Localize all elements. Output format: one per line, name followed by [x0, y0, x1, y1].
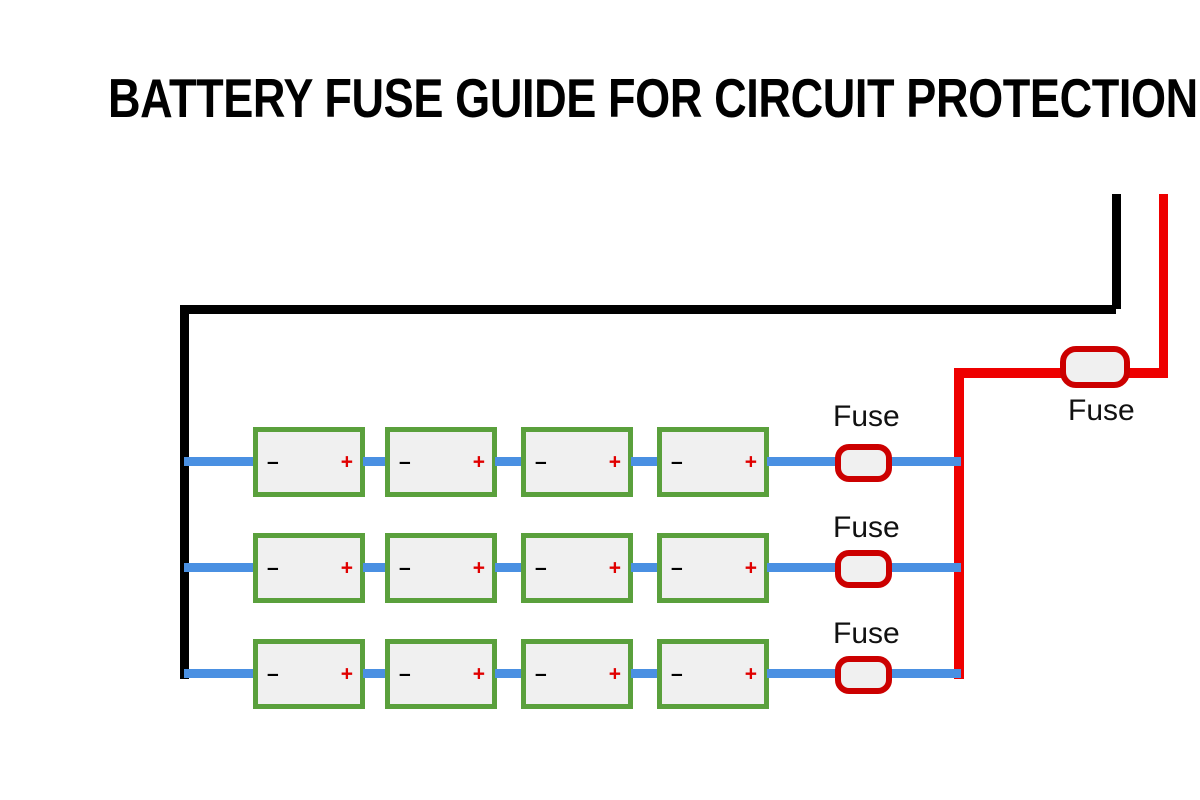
- string-3-wire-3-4: [631, 669, 659, 678]
- terminal-positive-label: +: [609, 558, 621, 579]
- terminal-positive-label: +: [341, 452, 353, 473]
- terminal-positive-label: +: [745, 452, 757, 473]
- terminal-negative-label: –: [671, 664, 683, 685]
- red-bus-right-riser: [1159, 194, 1168, 374]
- string-3-wire-2-3: [495, 669, 523, 678]
- string-1-battery-1[interactable]: – +: [253, 427, 365, 497]
- string-3-wire-bus-to-battery-1: [184, 669, 255, 678]
- terminal-negative-label: –: [399, 558, 411, 579]
- terminal-negative-label: –: [267, 664, 279, 685]
- red-bus-top-horizontal: [954, 368, 1064, 378]
- terminal-positive-label: +: [473, 452, 485, 473]
- terminal-negative-label: –: [267, 452, 279, 473]
- string-3-battery-3[interactable]: – +: [521, 639, 633, 709]
- terminal-positive-label: +: [341, 664, 353, 685]
- terminal-positive-label: +: [341, 558, 353, 579]
- terminal-positive-label: +: [473, 558, 485, 579]
- string-1-wire-2-3: [495, 457, 523, 466]
- terminal-positive-label: +: [745, 664, 757, 685]
- string-1-wire-1-2: [363, 457, 387, 466]
- string-2-wire-2-3: [495, 563, 523, 572]
- string-1-battery-4[interactable]: – +: [657, 427, 769, 497]
- string-3-battery-4[interactable]: – +: [657, 639, 769, 709]
- string-1-battery-2[interactable]: – +: [385, 427, 497, 497]
- black-bus-left-vertical: [180, 305, 189, 679]
- string-2-battery-1[interactable]: – +: [253, 533, 365, 603]
- main-fuse-label: Fuse: [1068, 396, 1135, 426]
- string-2-wire-1-2: [363, 563, 387, 572]
- terminal-negative-label: –: [671, 452, 683, 473]
- string-2-wire-3-4: [631, 563, 659, 572]
- string-3-wire-1-2: [363, 669, 387, 678]
- string-3-fuse-label: Fuse: [833, 619, 900, 649]
- diagram-canvas: BATTERY FUSE GUIDE FOR CIRCUIT PROTECTIO…: [0, 0, 1200, 800]
- terminal-negative-label: –: [399, 452, 411, 473]
- terminal-negative-label: –: [535, 452, 547, 473]
- string-3-fuse[interactable]: [835, 656, 892, 694]
- red-bus-vertical: [954, 368, 964, 679]
- string-1-wire-bus-to-battery-1: [184, 457, 255, 466]
- black-bus-right-riser: [1112, 194, 1121, 309]
- string-1-wire-3-4: [631, 457, 659, 466]
- string-1-battery-3[interactable]: – +: [521, 427, 633, 497]
- terminal-negative-label: –: [267, 558, 279, 579]
- string-2-fuse-label: Fuse: [833, 513, 900, 543]
- string-2-battery-2[interactable]: – +: [385, 533, 497, 603]
- string-3-battery-1[interactable]: – +: [253, 639, 365, 709]
- black-bus-top-horizontal: [180, 305, 1116, 314]
- main-fuse[interactable]: [1060, 346, 1130, 388]
- string-2-battery-3[interactable]: – +: [521, 533, 633, 603]
- terminal-negative-label: –: [535, 664, 547, 685]
- string-2-wire-bus-to-battery-1: [184, 563, 255, 572]
- terminal-positive-label: +: [473, 664, 485, 685]
- string-3-battery-2[interactable]: – +: [385, 639, 497, 709]
- page-title: BATTERY FUSE GUIDE FOR CIRCUIT PROTECTIO…: [108, 68, 1092, 128]
- string-1-fuse-label: Fuse: [833, 402, 900, 432]
- terminal-negative-label: –: [671, 558, 683, 579]
- terminal-negative-label: –: [399, 664, 411, 685]
- string-2-battery-4[interactable]: – +: [657, 533, 769, 603]
- terminal-negative-label: –: [535, 558, 547, 579]
- terminal-positive-label: +: [745, 558, 757, 579]
- string-2-fuse[interactable]: [835, 550, 892, 588]
- terminal-positive-label: +: [609, 452, 621, 473]
- terminal-positive-label: +: [609, 664, 621, 685]
- string-1-fuse[interactable]: [835, 444, 892, 482]
